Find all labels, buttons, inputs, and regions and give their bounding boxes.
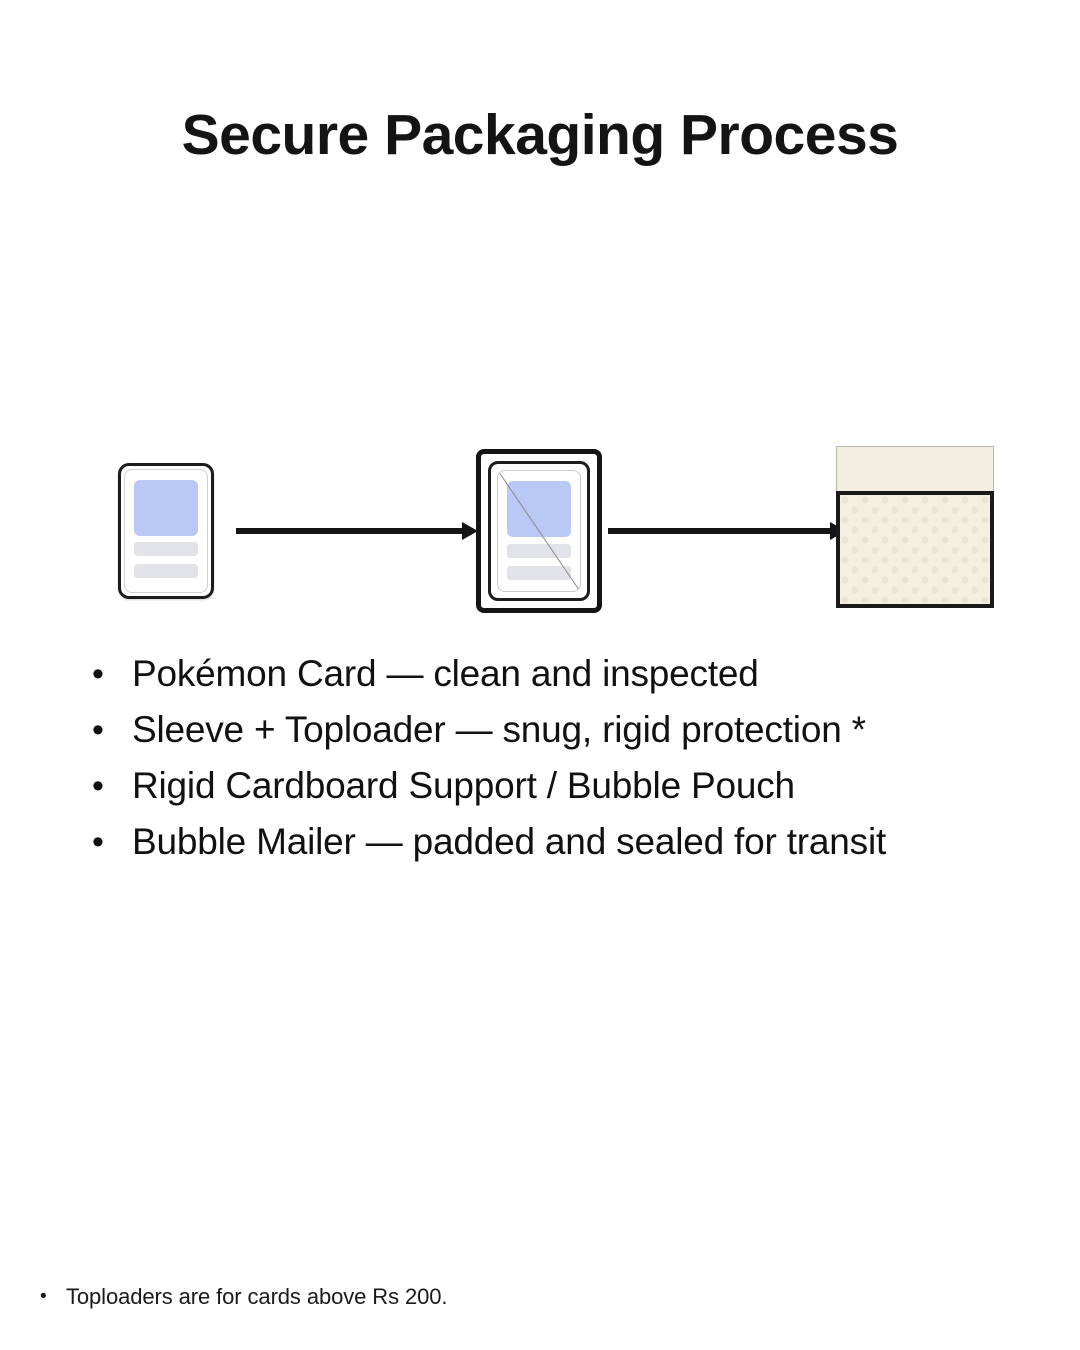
packaging-steps-list: • Pokémon Card — clean and inspected • S…: [92, 648, 1052, 872]
list-item: • Sleeve + Toploader — snug, rigid prote…: [92, 704, 1052, 760]
footnote: • Toploaders are for cards above Rs 200.: [40, 1282, 447, 1312]
stage-bubble-mailer: [836, 446, 994, 608]
list-item-label: Rigid Cardboard Support / Bubble Pouch: [132, 760, 795, 812]
list-item-label: Pokémon Card — clean and inspected: [132, 648, 759, 700]
bullet-marker-icon: •: [92, 648, 132, 700]
bubble-mailer-body: [836, 491, 994, 608]
toploader-card-text-bar-1: [507, 544, 571, 558]
arrow-toploader-to-mailer-icon: [608, 520, 846, 542]
stage-pokemon-card: [118, 463, 214, 599]
card-inner-border: [124, 469, 208, 593]
footnote-bullet-marker-icon: •: [40, 1282, 66, 1312]
arrow-shaft: [236, 528, 464, 534]
footnote-label: Toploaders are for cards above Rs 200.: [66, 1282, 447, 1312]
toploader-sleeve-border: [488, 461, 590, 601]
list-item-label: Bubble Mailer — padded and sealed for tr…: [132, 816, 886, 868]
toploader-card-text-bar-2: [507, 566, 571, 580]
packaging-process-diagram: [0, 430, 1080, 630]
page-title: Secure Packaging Process: [0, 104, 1080, 167]
toploader-card-artwork-block: [507, 481, 571, 537]
list-item-label: Sleeve + Toploader — snug, rigid protect…: [132, 704, 866, 756]
arrow-shaft: [608, 528, 832, 534]
card-artwork-block: [134, 480, 198, 536]
bubble-mailer-flap: [836, 446, 994, 492]
list-item: • Rigid Cardboard Support / Bubble Pouch: [92, 760, 1052, 816]
bubble-texture: [840, 495, 990, 604]
bullet-marker-icon: •: [92, 760, 132, 812]
list-item: • Bubble Mailer — padded and sealed for …: [92, 816, 1052, 872]
bullet-marker-icon: •: [92, 816, 132, 868]
card-text-bar-1: [134, 542, 198, 556]
stage-sleeve-toploader: [476, 449, 602, 613]
list-item: • Pokémon Card — clean and inspected: [92, 648, 1052, 704]
card-text-bar-2: [134, 564, 198, 578]
toploader-inner-card: [497, 470, 581, 592]
bullet-marker-icon: •: [92, 704, 132, 756]
arrow-card-to-toploader-icon: [236, 520, 478, 542]
